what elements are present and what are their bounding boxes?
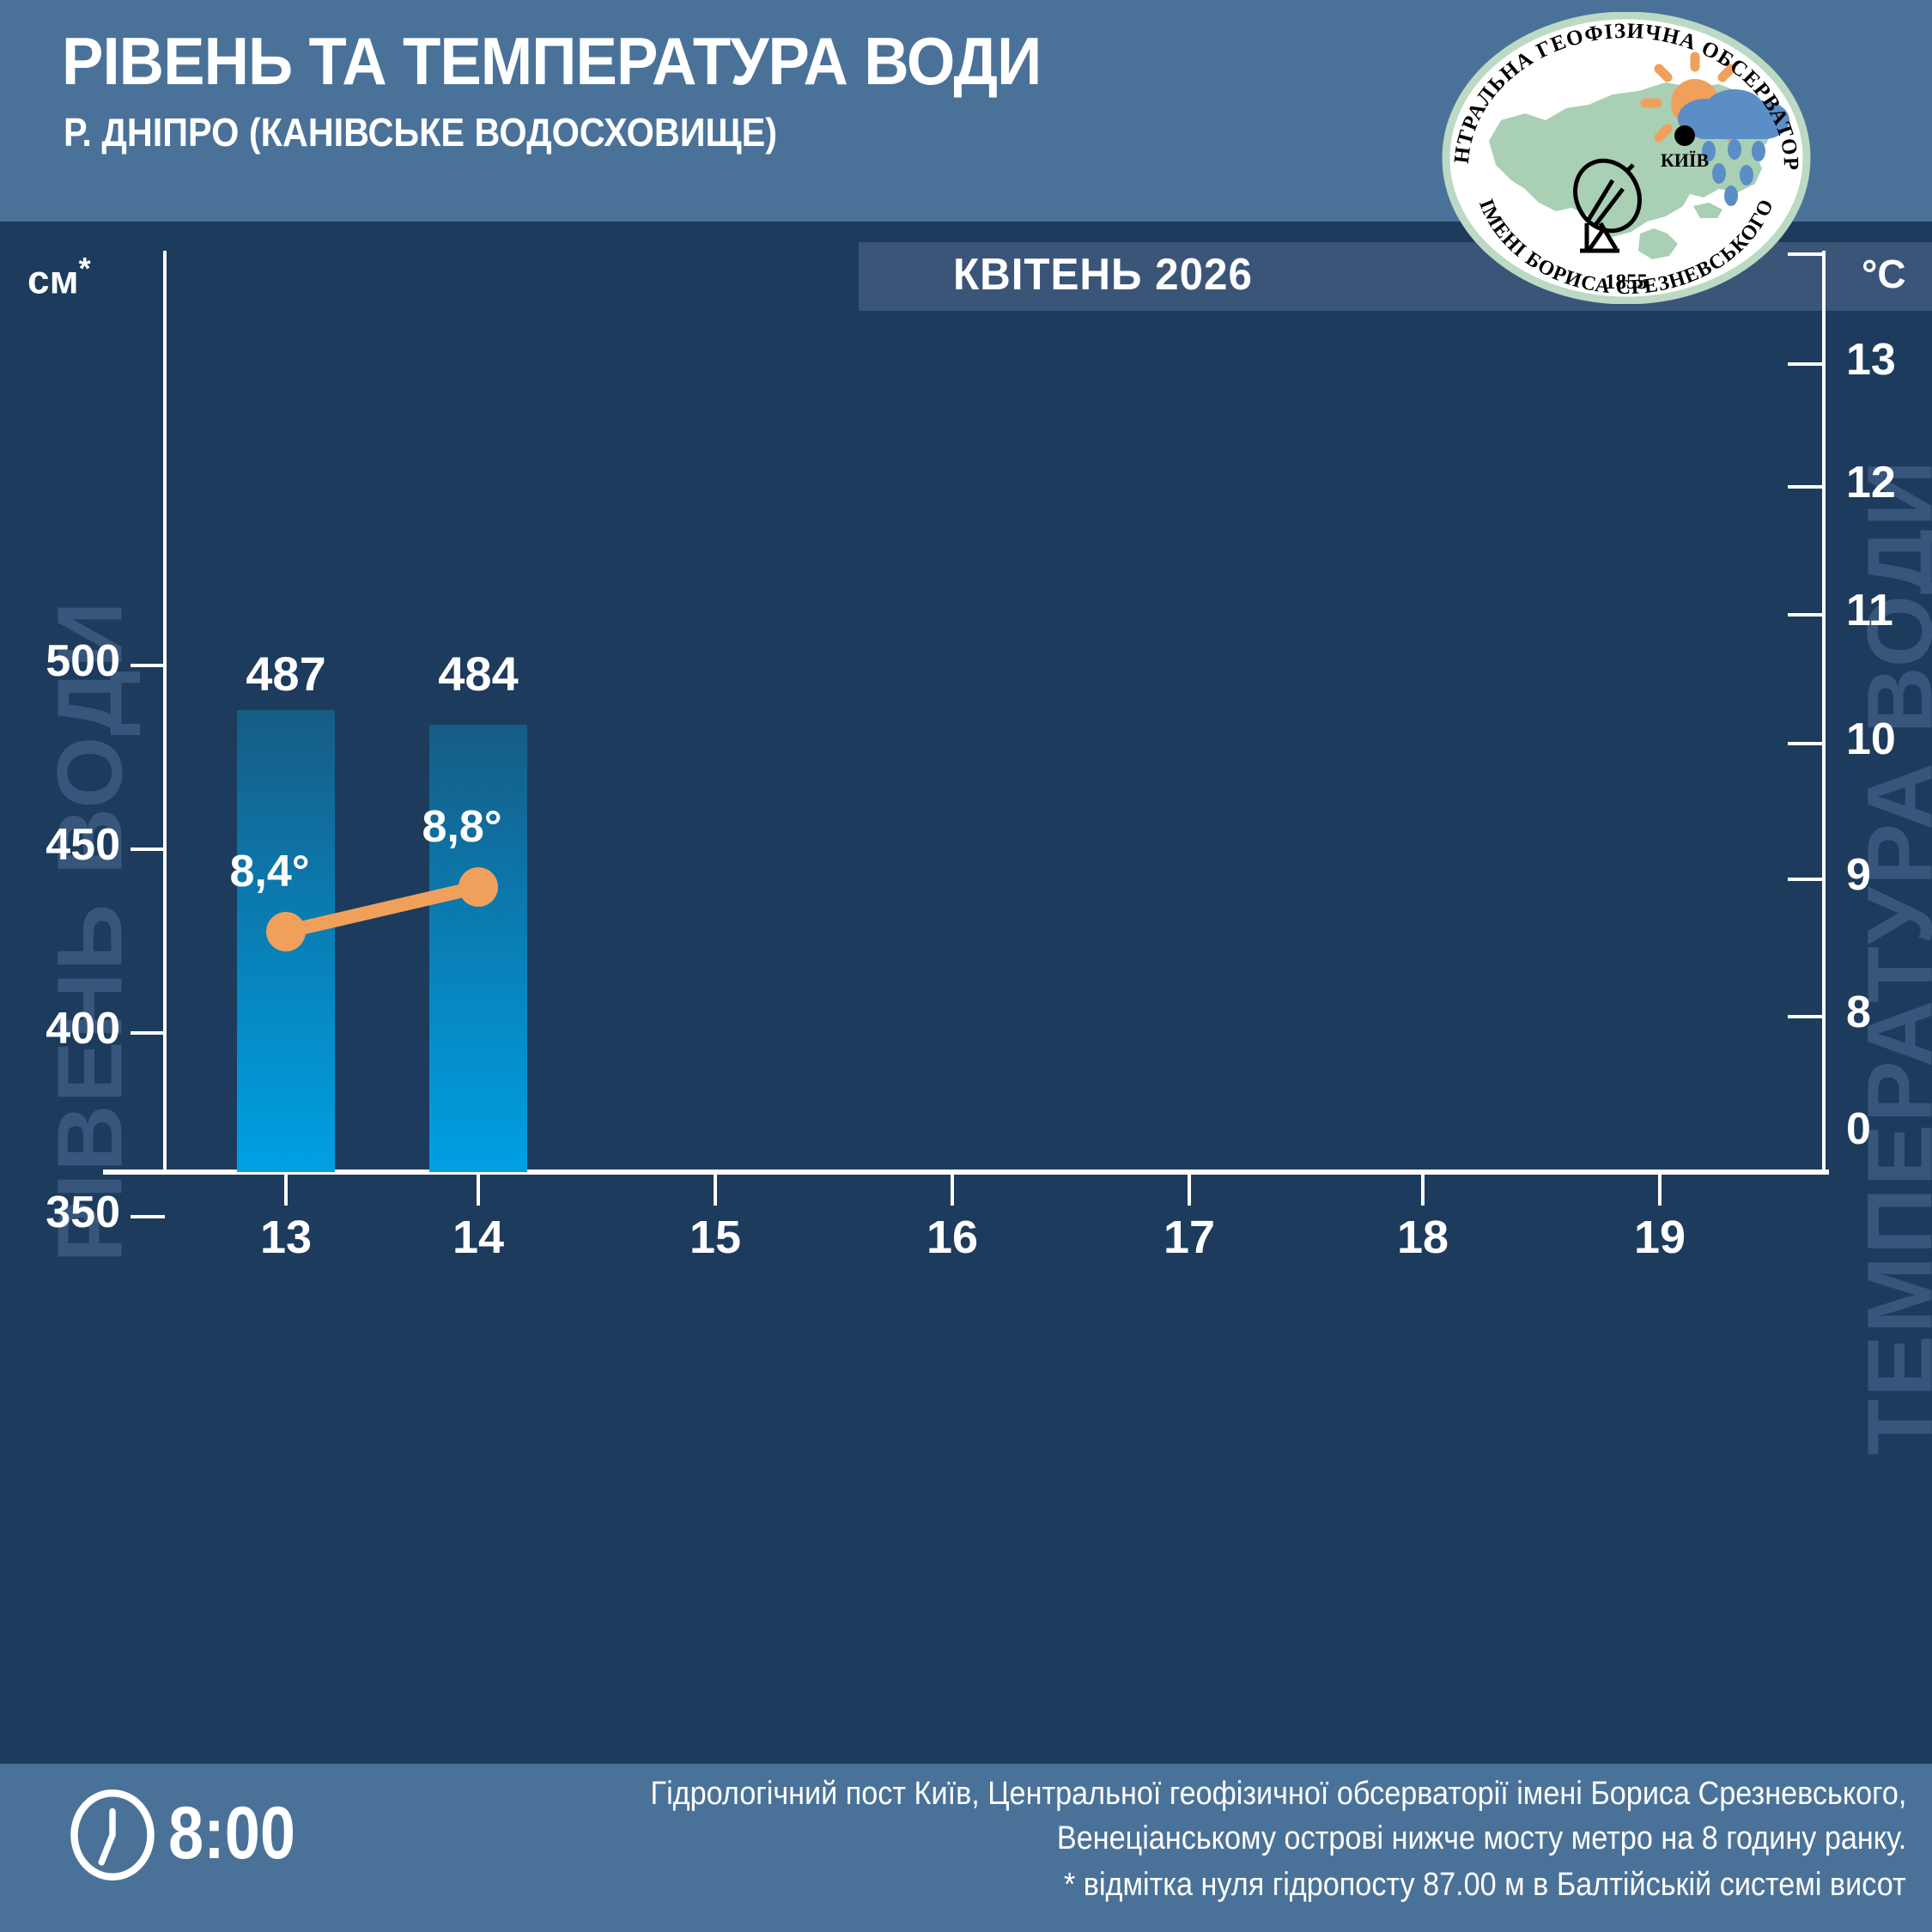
month-label: КВІТЕНЬ 2026 [953, 249, 1253, 301]
x-label-14: 14 [427, 1211, 530, 1264]
page-title: РІВЕНЬ ТА ТЕМПЕРАТУРА ВОДИ [62, 22, 1041, 100]
x-label-17: 17 [1138, 1211, 1241, 1264]
bar-label-day-14: 484 [392, 646, 564, 702]
observatory-logo: КИЇВ ЦЕНТРАЛЬНА ГЕОФІЗИЧНА ОБСЕРВАТОРІЯ … [1436, 12, 1817, 304]
right-axis-watermark: ТЕМПЕРАТУРА ВОДИ [1846, 391, 1932, 1524]
clock-icon [67, 1789, 158, 1880]
x-label-15: 15 [664, 1211, 767, 1264]
right-tick-label-0: 0 [1846, 1103, 1871, 1155]
logo-year: 1855 [1605, 270, 1648, 294]
temperature-point-day-14[interactable] [459, 867, 498, 907]
left-axis-watermark: РІВЕНЬ ВОДИ [36, 365, 143, 1498]
right-tick-10 [1788, 742, 1822, 745]
x-tick-19 [1658, 1175, 1662, 1206]
temperature-label-day-14: 8,8° [359, 801, 565, 853]
footer-line-3: * відмітка нуля гідропосту 87.00 м в Бал… [1064, 1867, 1906, 1904]
right-tick-label-11: 11 [1846, 585, 1893, 636]
x-tick-16 [951, 1175, 954, 1206]
left-tick-label-450: 450 [0, 819, 120, 871]
right-tick-13 [1788, 362, 1822, 366]
right-tick-top [1788, 252, 1822, 256]
left-tick-label-500: 500 [0, 635, 120, 687]
right-tick-label-8: 8 [1846, 987, 1871, 1038]
left-tick-500 [131, 664, 165, 667]
left-tick-label-350: 350 [0, 1187, 120, 1238]
right-tick-label-9: 9 [1846, 849, 1871, 901]
x-label-13: 13 [234, 1211, 337, 1264]
footer-line-2: Венеціанському острові нижче мосту метро… [1057, 1820, 1906, 1857]
left-tick-450 [131, 848, 165, 851]
kyiv-dot [1674, 125, 1695, 146]
left-axis-unit: см* [27, 251, 91, 302]
observation-time: 8:00 [168, 1791, 295, 1876]
page-subtitle: Р. ДНІПРО (КАНІВСЬКЕ ВОДОСХОВИЩЕ) [64, 109, 777, 155]
right-tick-label-10: 10 [1846, 714, 1896, 765]
temperature-point-day-13[interactable] [266, 912, 306, 951]
right-tick-label-13: 13 [1846, 334, 1896, 386]
footer-band: 8:00 Гідрологічний пост Київ, Центрально… [0, 1764, 1932, 1932]
temperature-label-day-13: 8,4° [167, 846, 373, 897]
left-tick-label-400: 400 [0, 1003, 120, 1054]
infographic-root: РІВЕНЬ ТА ТЕМПЕРАТУРА ВОДИ Р. ДНІПРО (КА… [0, 0, 1932, 1932]
right-axis-unit: °C [1862, 251, 1906, 297]
footer-line-1: Гідрологічний пост Київ, Центральної гео… [650, 1776, 1906, 1813]
x-label-18: 18 [1371, 1211, 1474, 1264]
x-axis-line [103, 1170, 1829, 1175]
left-tick-350 [131, 1215, 165, 1218]
logo-city-label: КИЇВ [1661, 149, 1710, 171]
right-tick-11 [1788, 613, 1822, 617]
right-tick-label-12: 12 [1846, 457, 1896, 508]
x-tick-18 [1421, 1175, 1425, 1206]
x-label-16: 16 [901, 1211, 1004, 1264]
x-tick-14 [477, 1175, 480, 1206]
bar-label-day-13: 487 [200, 646, 372, 702]
left-unit-asterisk: * [79, 251, 91, 286]
bar-day-14[interactable] [429, 725, 527, 1172]
x-label-19: 19 [1608, 1211, 1711, 1264]
x-tick-17 [1188, 1175, 1191, 1206]
left-tick-400 [131, 1031, 165, 1035]
right-tick-9 [1788, 878, 1822, 881]
x-tick-15 [714, 1175, 717, 1206]
right-tick-8 [1788, 1015, 1822, 1018]
right-axis-line [1822, 251, 1826, 1171]
x-tick-13 [284, 1175, 288, 1206]
chart-area: РІВЕНЬ ВОДИ ТЕМПЕРАТУРА ВОДИ см* °C 500 … [0, 311, 1932, 1752]
right-tick-12 [1788, 485, 1822, 489]
left-unit-text: см [27, 257, 79, 301]
